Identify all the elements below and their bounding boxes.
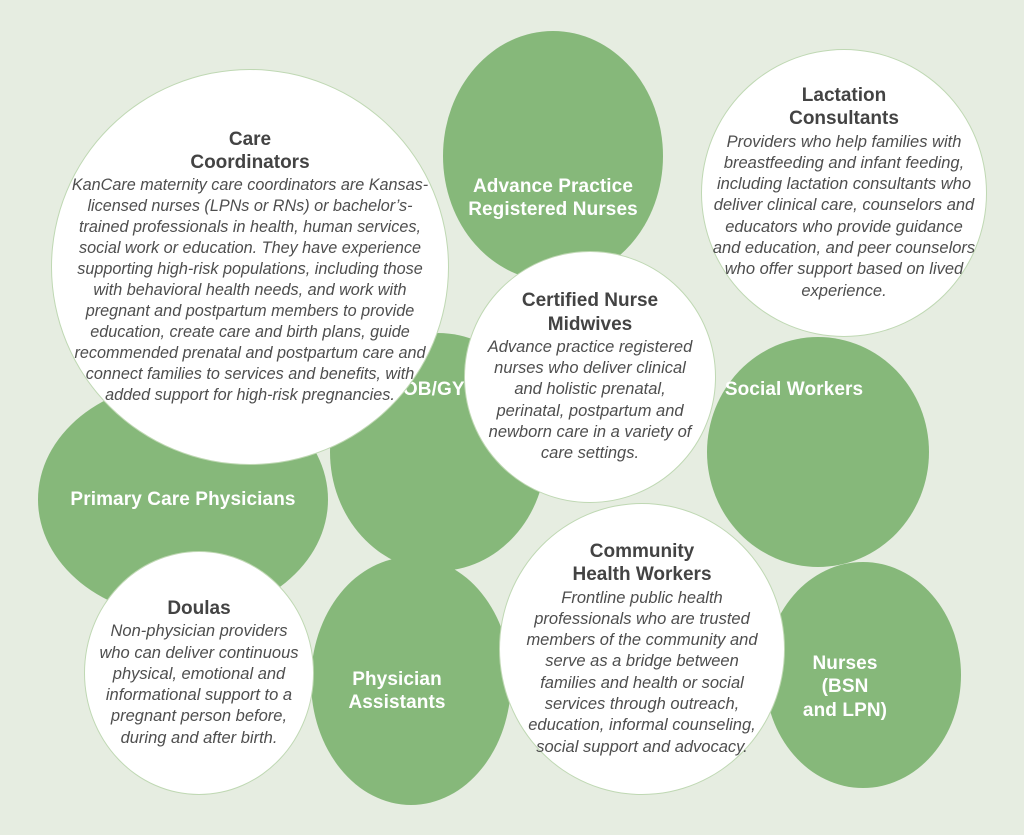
bubble-inner: Primary Care Physicians <box>38 488 328 511</box>
bubble-inner: Advance Practice Registered Nurses <box>443 175 663 221</box>
bubble-diagram-canvas: Advance Practice Registered Nurses Prima… <box>0 0 1024 835</box>
bubble-doulas[interactable]: Doulas Non-physician providers who can d… <box>84 551 314 795</box>
bubble-body: Advance practice registered nurses who d… <box>481 337 699 465</box>
bubble-title: Lactation Consultants <box>710 84 978 130</box>
bubble-nurses-bsn-and-lpn[interactable]: Nurses (BSN and LPN) <box>765 562 961 788</box>
bubble-community-health-workers[interactable]: Community Health Workers Frontline publi… <box>499 503 785 795</box>
bubble-body: Non-physician providers who can deliver … <box>95 621 303 749</box>
bubble-inner: Physician Assistants <box>297 668 497 714</box>
bubble-inner: Community Health Workers Frontline publi… <box>500 540 784 758</box>
bubble-inner: Care Coordinators KanCare maternity care… <box>52 128 448 406</box>
bubble-care-coordinators[interactable]: Care Coordinators KanCare maternity care… <box>51 69 449 465</box>
bubble-title: Doulas <box>95 597 303 620</box>
bubble-title: Social Workers <box>689 378 899 401</box>
bubble-inner: Certified Nurse Midwives Advance practic… <box>465 289 715 464</box>
bubble-body: Frontline public health professionals wh… <box>518 588 766 758</box>
bubble-title: Community Health Workers <box>518 540 766 586</box>
bubble-physician-assistants[interactable]: Physician Assistants <box>311 557 511 805</box>
bubble-inner: Social Workers <box>683 378 905 401</box>
bubble-title: Care Coordinators <box>64 128 436 174</box>
bubble-title: Certified Nurse Midwives <box>481 289 699 335</box>
bubble-social-workers[interactable]: Social Workers <box>707 337 929 567</box>
bubble-title: Primary Care Physicians <box>44 488 322 511</box>
bubble-inner: Lactation Consultants Providers who help… <box>702 84 986 302</box>
bubble-lactation-consultants[interactable]: Lactation Consultants Providers who help… <box>701 49 987 337</box>
bubble-inner: Doulas Non-physician providers who can d… <box>85 597 313 749</box>
bubble-body: Providers who help families with breastf… <box>710 132 978 302</box>
bubble-title: Advance Practice Registered Nurses <box>449 175 657 221</box>
bubble-body: KanCare maternity care coordinators are … <box>64 175 436 406</box>
bubble-advance-practice-registered-nurses[interactable]: Advance Practice Registered Nurses <box>443 31 663 281</box>
bubble-certified-nurse-midwives[interactable]: Certified Nurse Midwives Advance practic… <box>464 251 716 503</box>
bubble-title: Physician Assistants <box>303 668 491 714</box>
